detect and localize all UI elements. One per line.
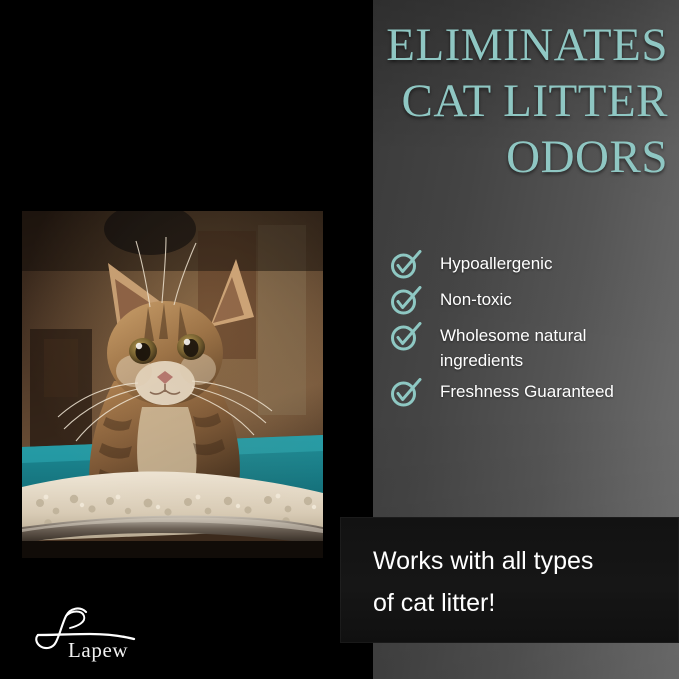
headline-line-3: ODORS (300, 129, 668, 185)
headline-line-1: ELIMINATES (300, 17, 668, 73)
feature-label: Hypoallergenic (440, 251, 552, 276)
check-circle-icon (390, 286, 422, 316)
feature-label: Wholesome natural ingredients (440, 323, 670, 373)
callout-text: Works with all types of cat litter! (373, 540, 663, 624)
check-circle-icon (390, 322, 422, 352)
feature-item: Non-toxic (390, 287, 670, 317)
brand-logo: Lapew (26, 604, 156, 666)
callout-box: Works with all types of cat litter! (340, 517, 679, 643)
feature-label: Non-toxic (440, 287, 512, 312)
callout-line-2: of cat litter! (373, 582, 663, 624)
feature-item: Wholesome natural ingredients (390, 323, 670, 373)
feature-item: Freshness Guaranteed (390, 379, 670, 409)
check-circle-icon (390, 250, 422, 280)
kitten-photo (22, 211, 323, 558)
callout-line-1: Works with all types (373, 540, 663, 582)
headline-line-2: CAT LITTER (300, 73, 668, 129)
feature-list: Hypoallergenic Non-toxic Wholesome natur… (390, 251, 670, 409)
feature-label: Freshness Guaranteed (440, 379, 614, 404)
headline: ELIMINATES CAT LITTER ODORS (300, 17, 668, 185)
logo-wordmark: Lapew (68, 638, 128, 663)
feature-item: Hypoallergenic (390, 251, 670, 281)
check-circle-icon (390, 378, 422, 408)
product-ad-image: ELIMINATES CAT LITTER ODORS (0, 0, 679, 679)
